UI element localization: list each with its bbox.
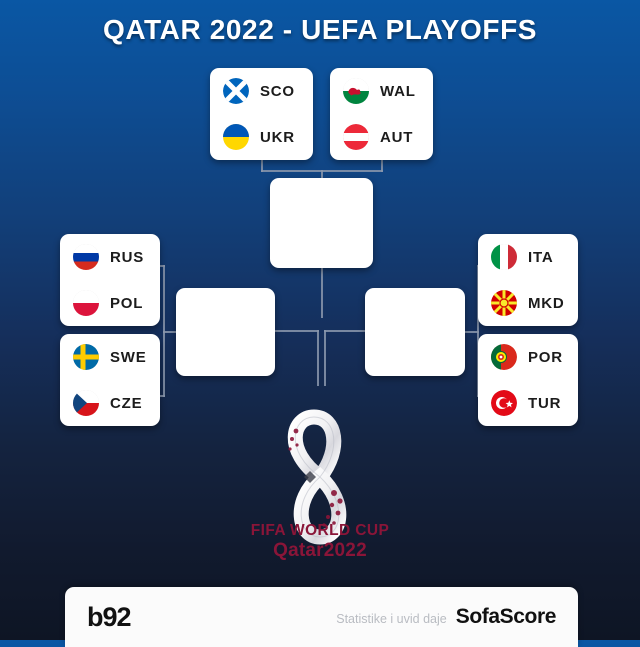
team-code: UKR — [260, 129, 295, 146]
team-row[interactable]: WAL — [330, 68, 433, 114]
match-rus-pol[interactable]: RUS POL — [60, 234, 160, 326]
team-code: ITA — [528, 249, 553, 266]
team-row[interactable]: ITA — [478, 234, 578, 280]
connector-pathC-center-down — [324, 330, 326, 386]
match-sco-ukr[interactable]: SCO UKR — [210, 68, 313, 160]
team-code: CZE — [110, 395, 142, 412]
match-wal-aut[interactable]: WAL AUT — [330, 68, 433, 160]
sofascore-logo[interactable]: SofaScore — [456, 605, 556, 629]
match-por-tur[interactable]: POR TUR — [478, 334, 578, 426]
flag-scotland-icon — [223, 78, 249, 104]
b92-logo[interactable]: b92 — [87, 602, 131, 633]
flag-portugal-icon — [491, 344, 517, 370]
team-row[interactable]: RUS — [60, 234, 160, 280]
flag-italy-icon — [491, 244, 517, 270]
flag-poland-icon — [73, 290, 99, 316]
path-b-final-slot[interactable] — [176, 288, 275, 376]
flag-ukraine-icon — [223, 124, 249, 150]
team-code: SWE — [110, 349, 147, 366]
flag-wales-icon — [343, 78, 369, 104]
team-row[interactable]: SCO — [210, 68, 313, 114]
team-code: RUS — [110, 249, 144, 266]
connector-rus-pol-stub — [163, 265, 165, 331]
bracket-canvas: QATAR 2022 - UEFA PLAYOFFS SCO — [0, 0, 640, 640]
connector-pathC-out — [464, 331, 479, 333]
connector-pathB-center-down — [317, 330, 319, 386]
path-c-final-slot[interactable] — [365, 288, 465, 376]
connector-swe-cze-stub — [163, 331, 165, 397]
flag-russia-icon — [73, 244, 99, 270]
team-code: POR — [528, 349, 563, 366]
path-a-final-slot[interactable] — [270, 178, 373, 268]
team-row[interactable]: MKD — [478, 280, 578, 326]
match-swe-cze[interactable]: SWE CZE — [60, 334, 160, 426]
team-code: SCO — [260, 83, 295, 100]
team-row[interactable]: POL — [60, 280, 160, 326]
logo-fifa-line: FIFA WORLD CUP — [0, 522, 640, 540]
team-row[interactable]: TUR — [478, 380, 578, 426]
flag-austria-icon — [343, 124, 369, 150]
credit-block: Statistike i uvid daje SofaScore — [336, 605, 556, 629]
team-row[interactable]: UKR — [210, 114, 313, 160]
team-row[interactable]: POR — [478, 334, 578, 380]
page-title: QATAR 2022 - UEFA PLAYOFFS — [0, 14, 640, 46]
connector-pathA-down — [321, 268, 323, 318]
team-code: TUR — [528, 395, 561, 412]
team-code: AUT — [380, 129, 413, 146]
team-row[interactable]: CZE — [60, 380, 160, 426]
flag-sweden-icon — [73, 344, 99, 370]
logo-qatar-line: Qatar2022 — [0, 540, 640, 562]
connector-pathC-to-center — [324, 330, 367, 332]
team-code: WAL — [380, 83, 416, 100]
team-row[interactable]: AUT — [330, 114, 433, 160]
team-code: MKD — [528, 295, 565, 312]
footer-bar: b92 Statistike i uvid daje SofaScore — [65, 587, 578, 647]
flag-czechia-icon — [73, 390, 99, 416]
credit-text: Statistike i uvid daje — [336, 612, 446, 626]
match-ita-mkd[interactable]: ITA MKD — [478, 234, 578, 326]
flag-turkey-icon — [491, 390, 517, 416]
flag-north-macedonia-icon — [491, 290, 517, 316]
connector-pathB-to-center — [275, 330, 319, 332]
team-row[interactable]: SWE — [60, 334, 160, 380]
team-code: POL — [110, 295, 143, 312]
